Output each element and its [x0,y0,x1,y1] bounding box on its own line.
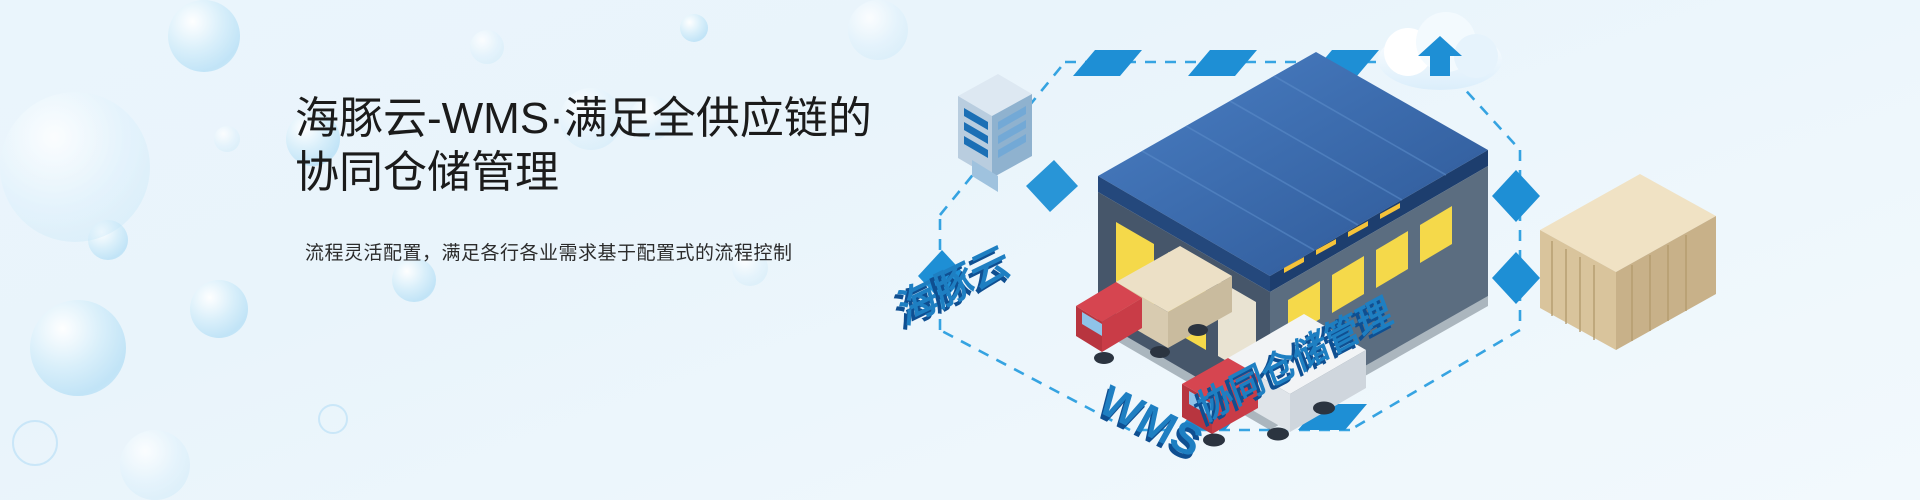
decorative-bubble [318,404,348,434]
decorative-bubble [120,430,190,500]
decorative-bubble [190,280,248,338]
decorative-bubble [88,220,128,260]
decorative-bubble [30,300,126,396]
banner-copy: 海豚云-WMS·满足全供应链的 协同仓储管理 流程灵活配置，满足各行各业需求基于… [295,92,935,268]
decorative-bubble [12,420,58,466]
hero-banner: 海豚云-WMS·满足全供应链的 协同仓储管理 流程灵活配置，满足各行各业需求基于… [0,0,1920,500]
decorative-bubble [0,92,150,242]
page-title: 海豚云-WMS·满足全供应链的 协同仓储管理 [295,92,935,200]
server-rack-icon [958,74,1032,192]
banner-subtitle: 流程灵活配置，满足各行各业需求基于配置式的流程控制 [305,240,935,268]
decorative-bubble [168,0,240,72]
shipping-container [1540,174,1716,350]
cloud-upload-icon [1378,12,1502,90]
decorative-bubble [214,126,240,152]
decorative-bubble [470,30,504,64]
warehouse-illustration: 海豚云 海豚云 WMS WMS 协同仓储管理 协同仓储管理 [880,0,1920,500]
decorative-bubble [680,14,708,42]
